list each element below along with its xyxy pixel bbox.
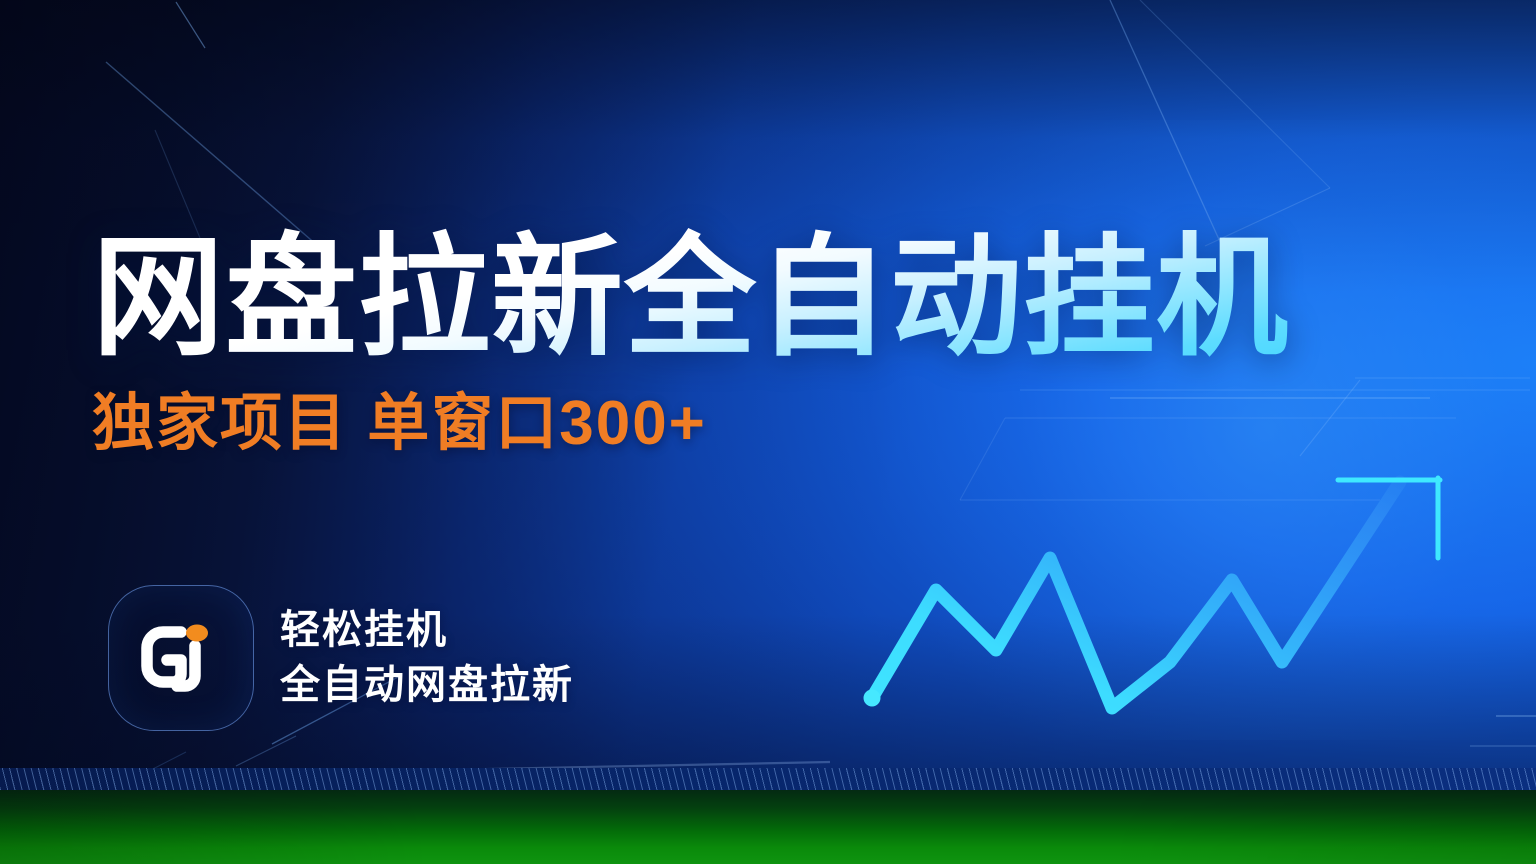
logo-badge [108, 585, 254, 731]
tagline-block: 轻松挂机 全自动网盘拉新 [280, 607, 574, 709]
bottom-bar-green [0, 790, 1536, 864]
bottom-bar-hatch [0, 768, 1536, 790]
gj-monogram-icon [133, 610, 229, 706]
promo-banner: 网盘拉新全自动挂机 独家项目 单窗口300+ 轻松挂机 全自动网盘拉新 [0, 0, 1536, 864]
headline-block: 网盘拉新全自动挂机 独家项目 单窗口300+ [92, 228, 1452, 458]
tagline-line-1: 轻松挂机 [280, 607, 574, 654]
brand-row: 轻松挂机 全自动网盘拉新 [108, 585, 574, 731]
bottom-bar [0, 768, 1536, 864]
tagline-line-2: 全自动网盘拉新 [280, 662, 574, 709]
subtitle-highlight: 独家项目 单窗口300+ [92, 390, 1452, 458]
page-title: 网盘拉新全自动挂机 [92, 228, 1452, 368]
